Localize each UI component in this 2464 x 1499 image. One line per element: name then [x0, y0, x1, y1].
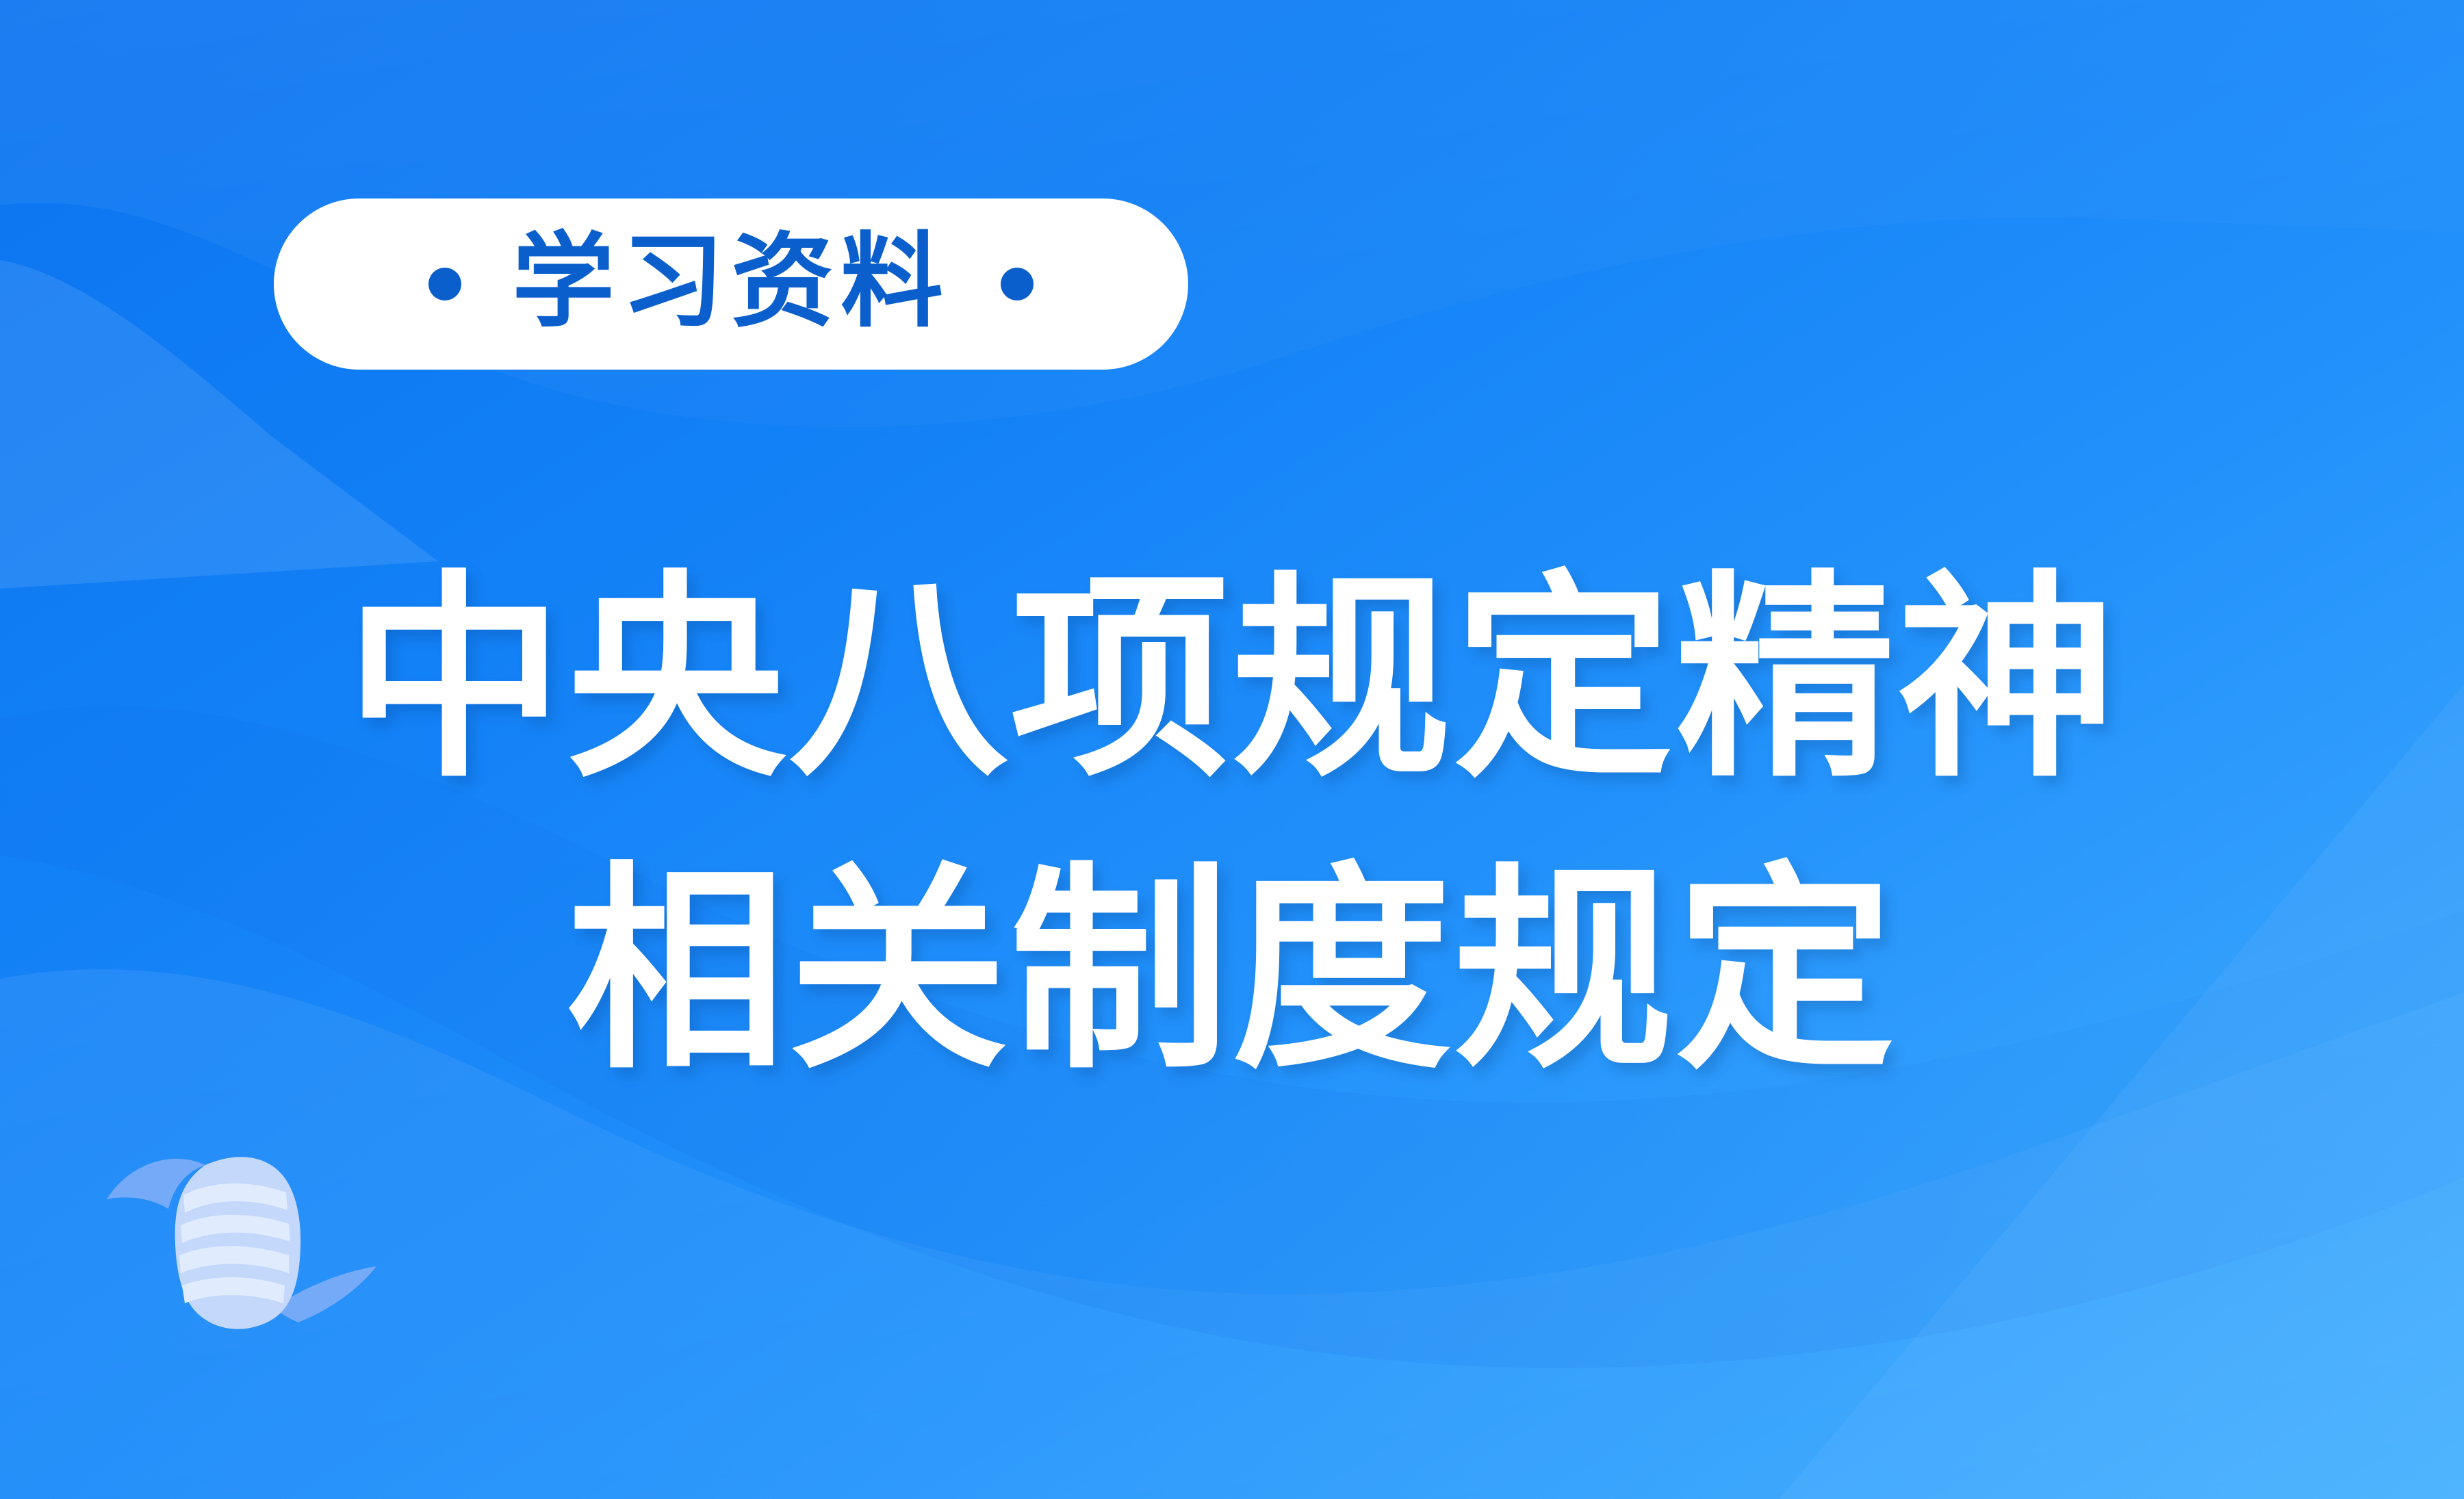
- scroll-document-icon: [103, 1129, 390, 1342]
- page-title-line-1: 中央八项规定精神: [0, 534, 2464, 825]
- dot-icon-right: [1001, 268, 1034, 300]
- badge-label: 学习资料: [512, 230, 950, 333]
- page-title-line-2: 相关制度规定: [0, 825, 2464, 1117]
- poster-canvas: 学习资料 中央八项规定精神 相关制度规定: [0, 0, 2464, 1499]
- dot-icon-left: [428, 268, 461, 300]
- study-material-badge[interactable]: 学习资料: [274, 198, 1188, 370]
- scroll-sheet: [175, 1157, 300, 1329]
- page-title: 中央八项规定精神 相关制度规定: [0, 534, 2464, 1116]
